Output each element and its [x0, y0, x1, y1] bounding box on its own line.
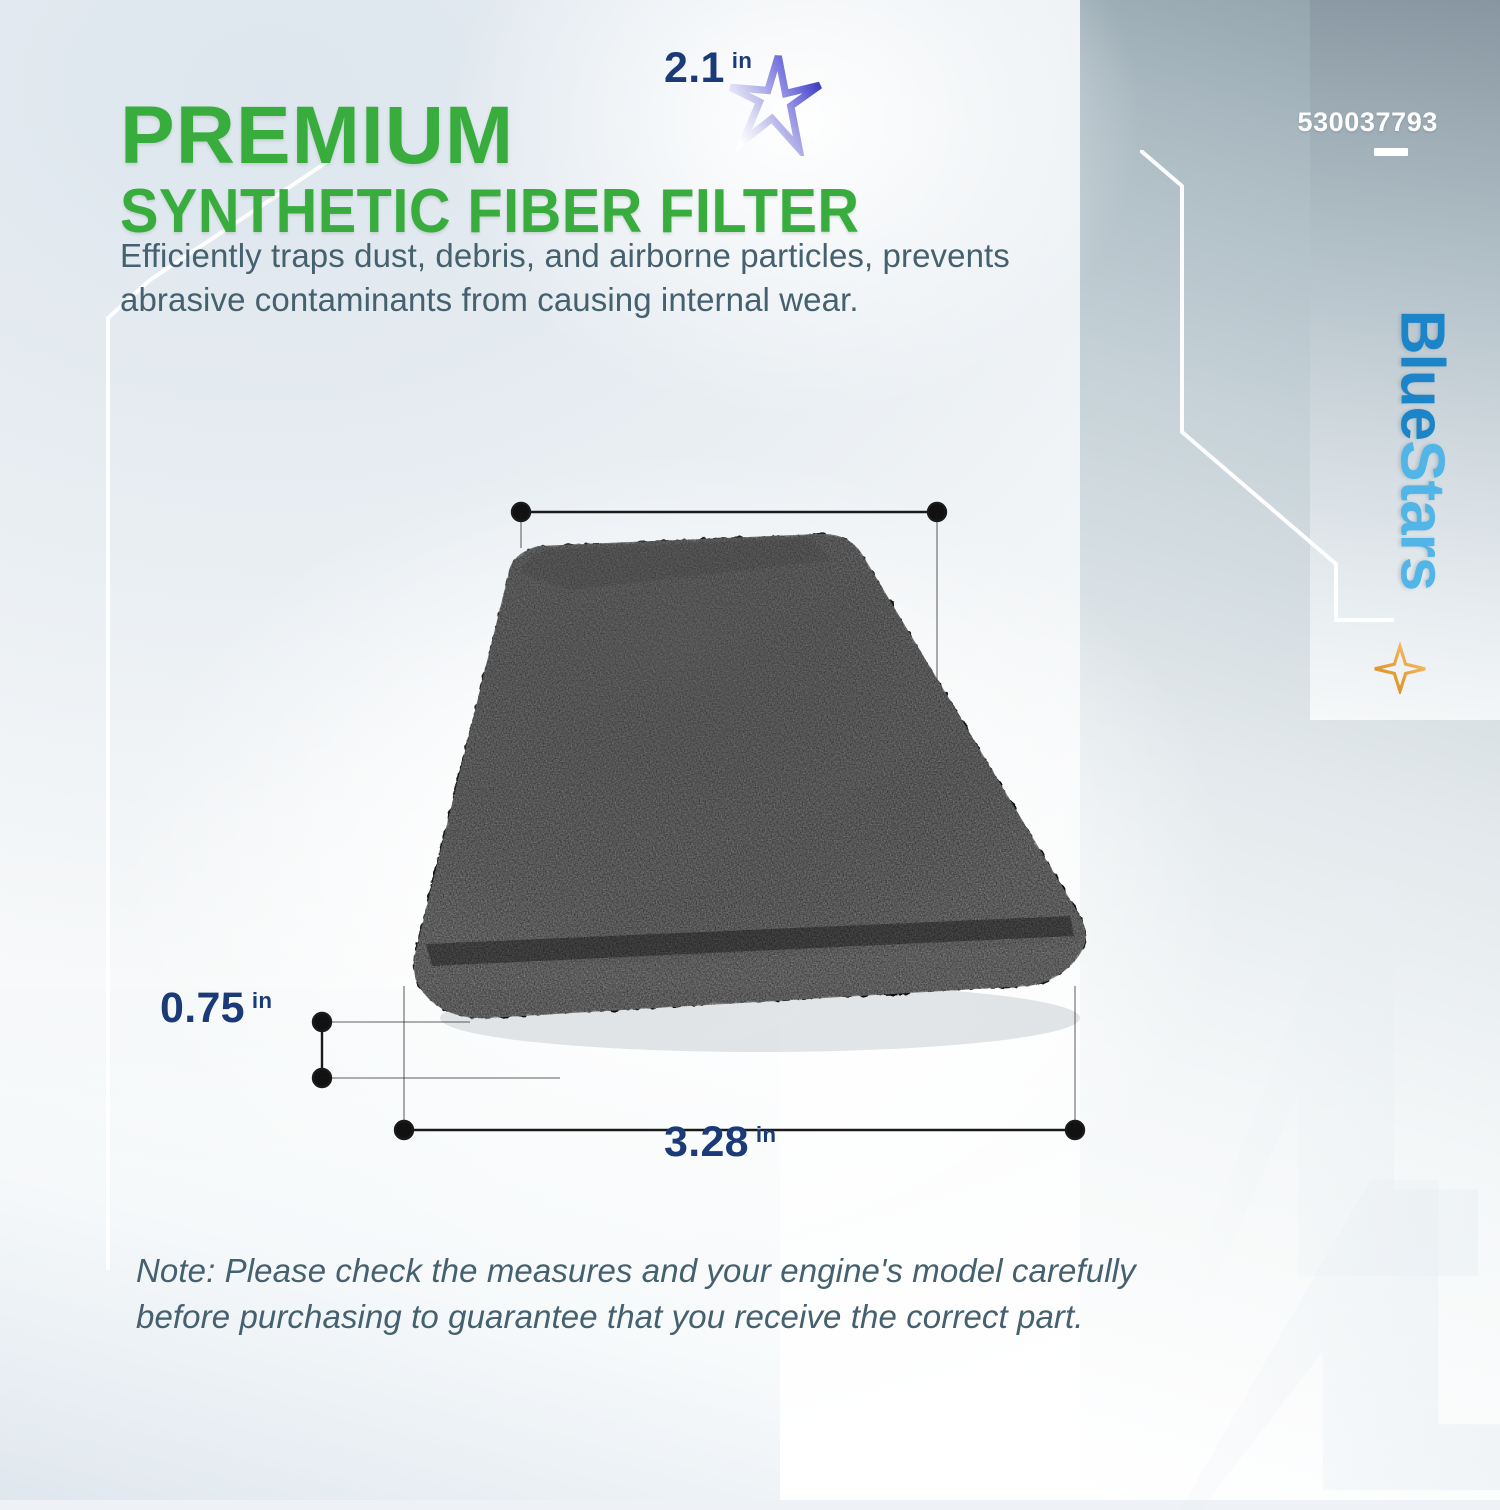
dimension-left-unit: in [252, 988, 272, 1013]
product-description: Efficiently traps dust, debris, and airb… [120, 234, 1080, 322]
page-title-premium: PREMIUM [120, 96, 1180, 176]
foam-filter-image [380, 520, 1100, 1065]
dimension-label-left: 0.75in [160, 984, 272, 1033]
dimension-top-unit: in [732, 48, 752, 73]
dimension-label-top: 2.1in [664, 44, 752, 93]
brand-word-blue: Blue [1388, 310, 1457, 440]
dimension-top-value: 2.1 [664, 44, 725, 92]
part-number-underline-dash [1374, 148, 1408, 156]
brand-logo-text: BlueStars [1387, 310, 1458, 590]
header-block: PREMIUM SYNTHETIC FIBER FILTER Efficient… [120, 96, 1180, 322]
purchase-note: Note: Please check the measures and your… [136, 1248, 1211, 1340]
dimension-left-value: 0.75 [160, 984, 245, 1032]
dimension-label-bottom: 3.28in [664, 1118, 776, 1167]
dimension-bottom-value: 3.28 [664, 1118, 749, 1166]
page-title-subtitle: SYNTHETIC FIBER FILTER [120, 180, 1106, 243]
product-figure [0, 430, 1260, 1230]
sparkle-star-icon [1372, 638, 1428, 694]
brand-logo: BlueStars [1362, 240, 1482, 660]
title-row: PREMIUM SYNTHETIC FIBER FILTER [120, 96, 1180, 200]
dimension-bottom-unit: in [756, 1122, 776, 1147]
brand-word-stars: Stars [1388, 440, 1457, 590]
part-number: 530037793 [1297, 107, 1438, 138]
